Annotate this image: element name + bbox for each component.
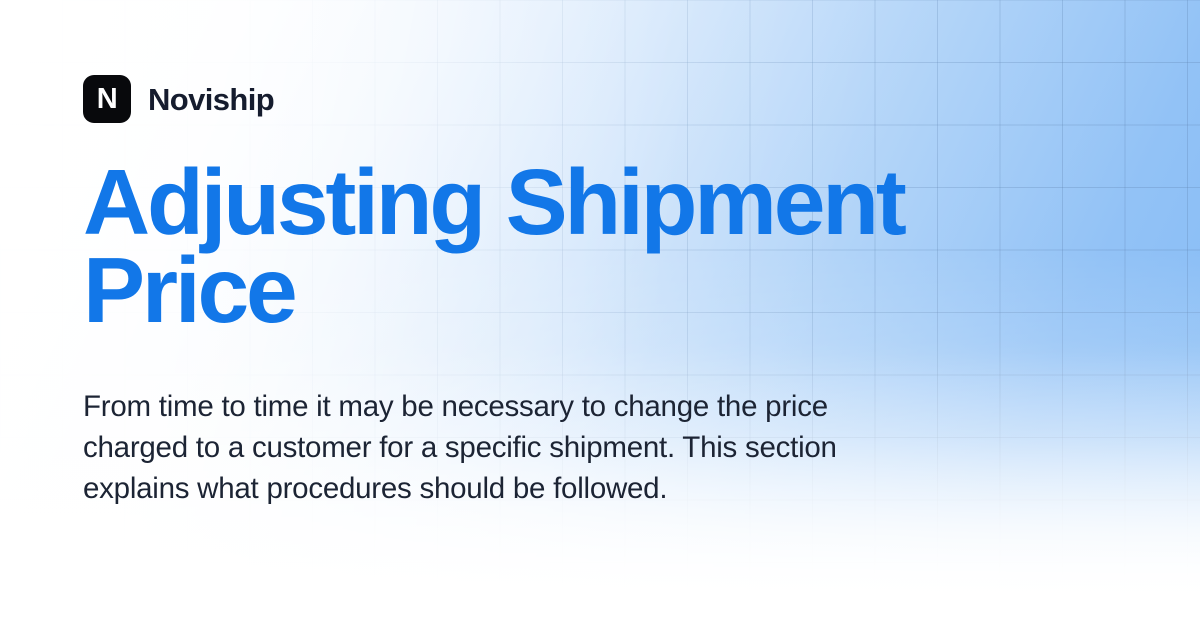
og-card: N Noviship Adjusting Shipment Price From… [0,0,1200,630]
card-content: N Noviship Adjusting Shipment Price From… [83,0,1083,630]
page-description: From time to time it may be necessary to… [83,386,883,509]
brand-lockup: N Noviship [83,75,274,123]
brand-name: Noviship [148,84,274,115]
noviship-logo-icon: N [83,75,131,123]
logo-letter: N [97,85,117,114]
page-title: Adjusting Shipment Price [83,158,1003,334]
